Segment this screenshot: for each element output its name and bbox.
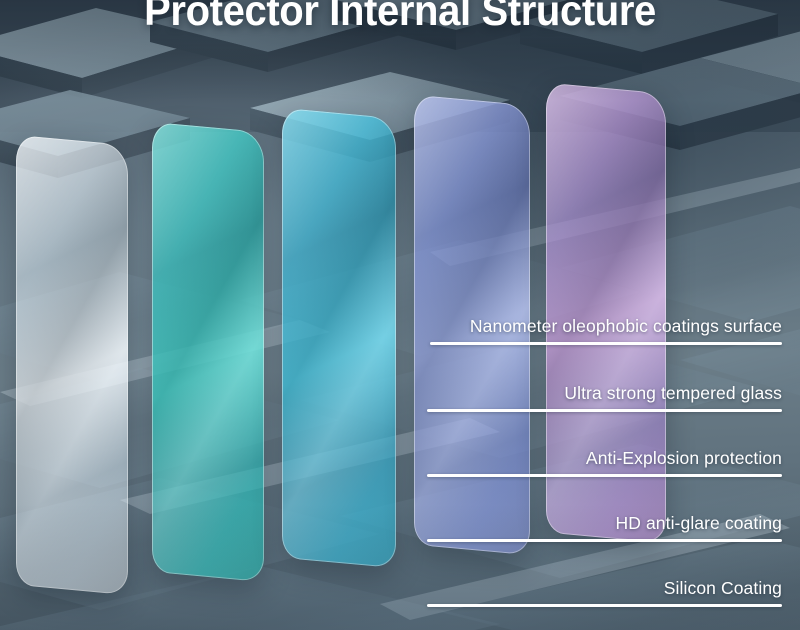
callout-5: Silicon Coating — [427, 570, 792, 607]
callout-rule-5 — [427, 604, 782, 607]
callout-label-3: Anti-Explosion protection — [586, 448, 782, 469]
callout-rule-2 — [427, 409, 782, 412]
page-title: Protector Internal Structure — [28, 0, 772, 36]
callout-rule-1 — [430, 342, 782, 345]
callout-label-1: Nanometer oleophobic coatings surface — [470, 316, 782, 337]
callout-3: Anti-Explosion protection — [427, 440, 792, 477]
callout-rule-3 — [427, 474, 782, 477]
callout-label-5: Silicon Coating — [664, 578, 782, 599]
callout-4: HD anti-glare coating — [427, 505, 792, 542]
product-infographic: Nanometer oleophobic coatings surface Ul… — [0, 0, 800, 630]
callout-1: Nanometer oleophobic coatings surface — [430, 308, 792, 345]
callout-2: Ultra strong tempered glass — [427, 375, 792, 412]
callout-label-2: Ultra strong tempered glass — [564, 383, 782, 404]
callout-label-4: HD anti-glare coating — [616, 513, 783, 534]
callout-rule-4 — [427, 539, 782, 542]
